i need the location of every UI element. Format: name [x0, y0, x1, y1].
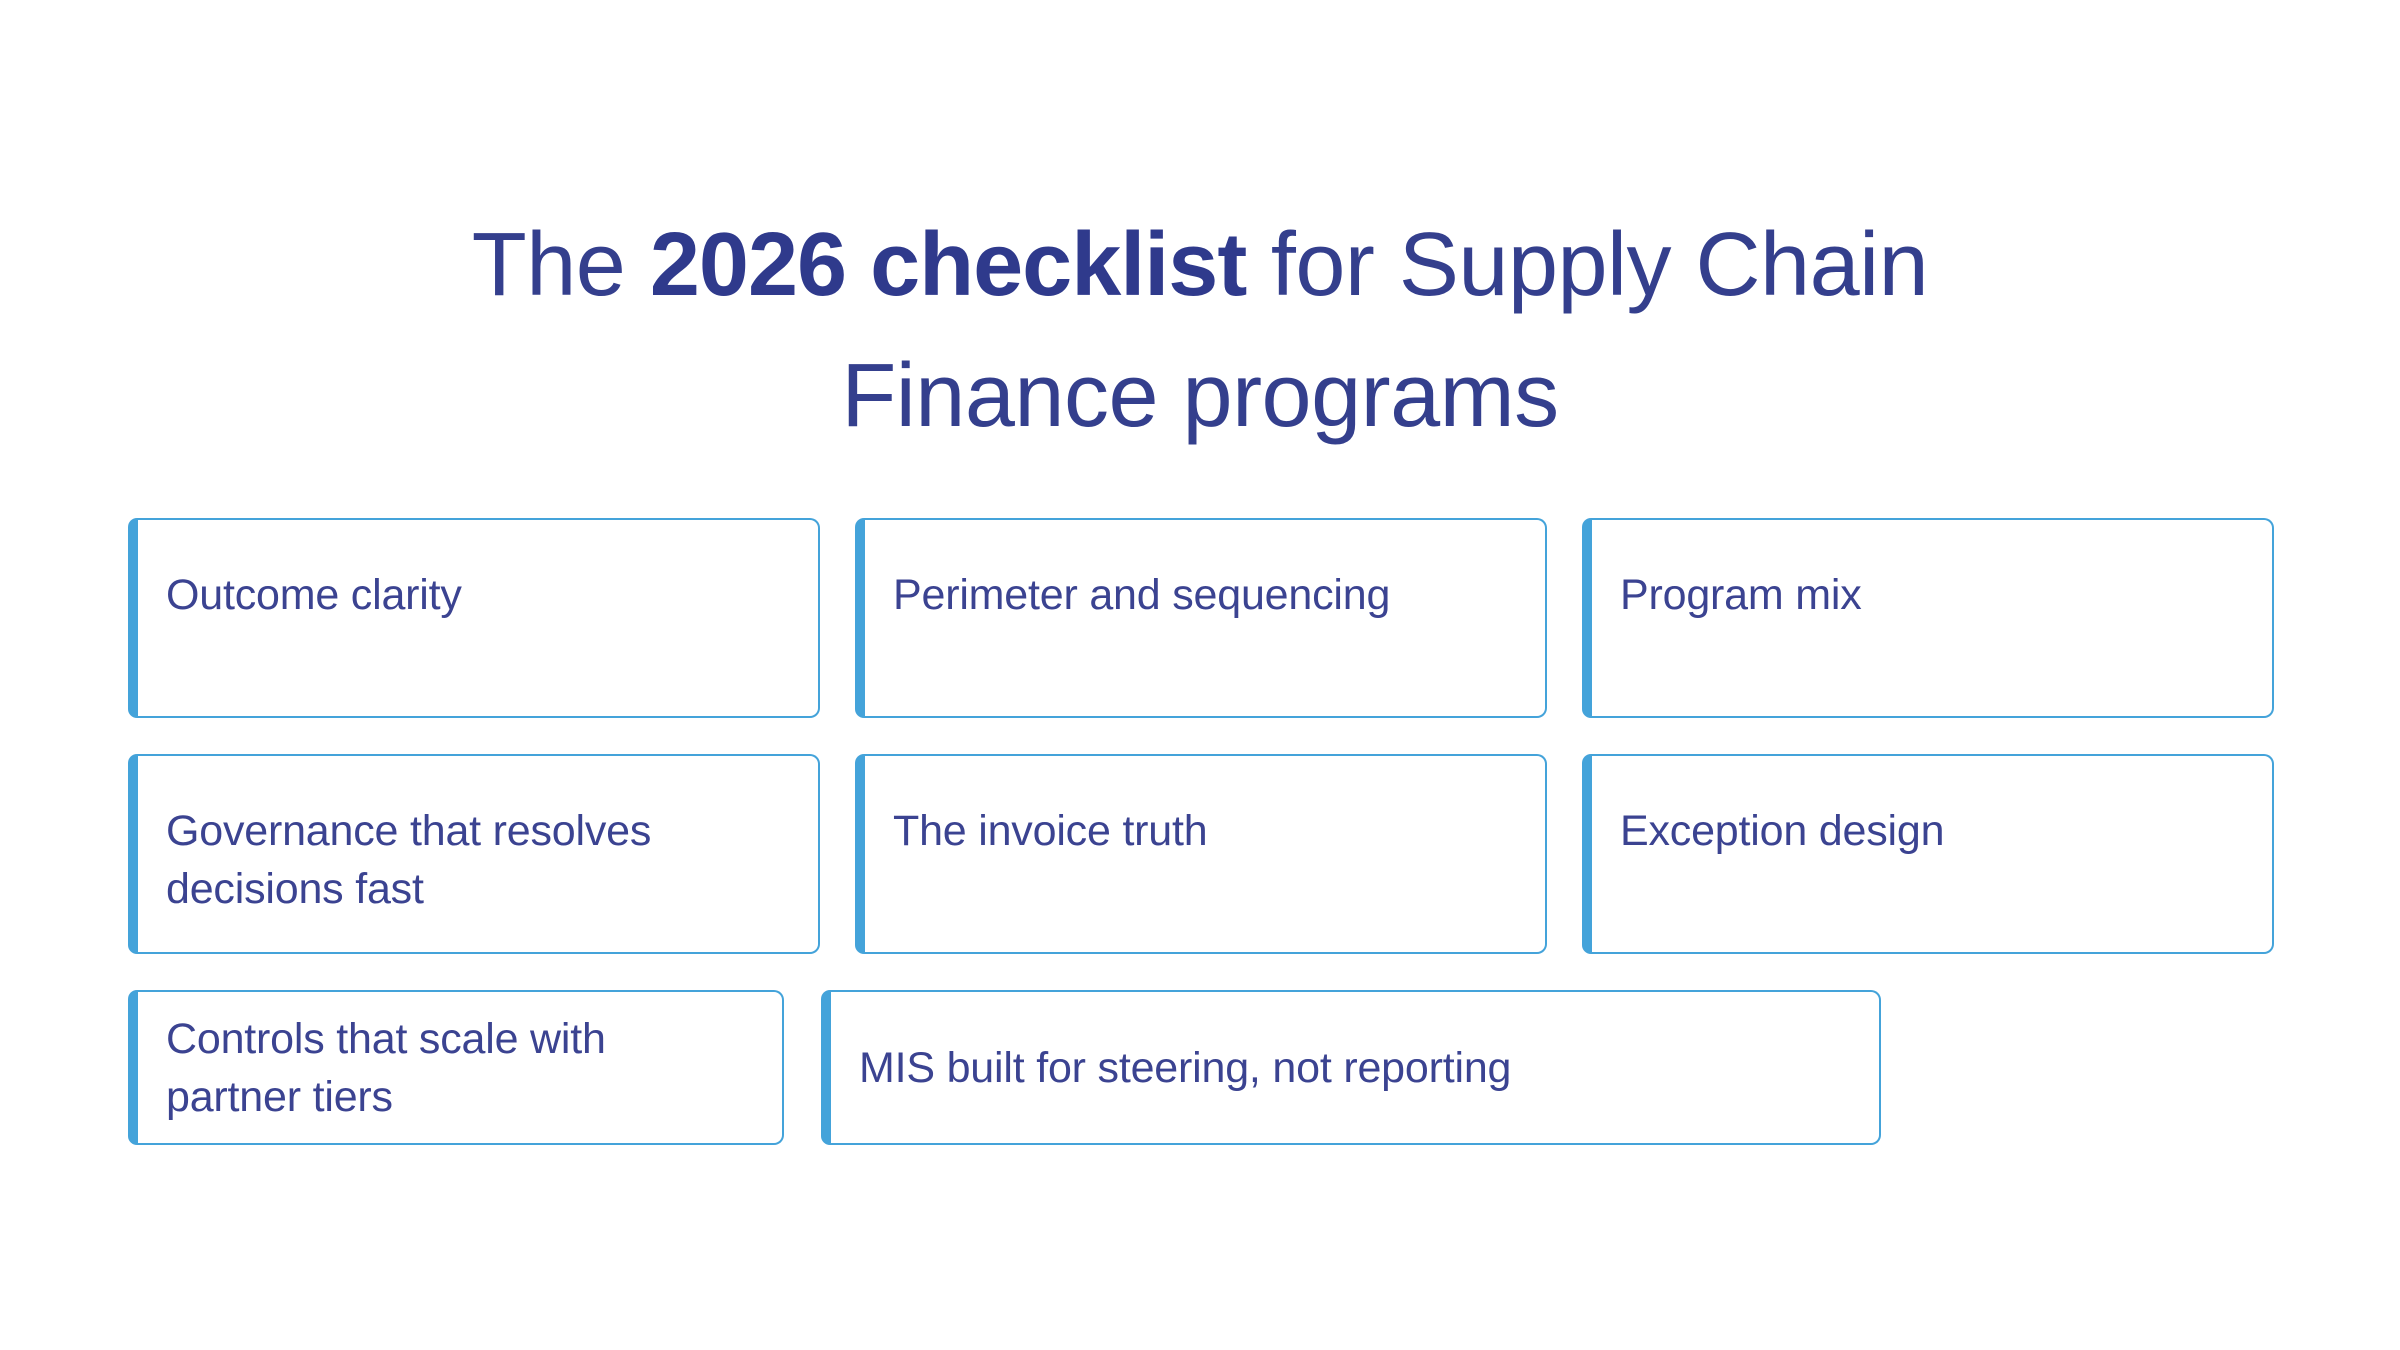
checklist-card-perimeter-and-sequencing[interactable]: Perimeter and sequencing [865, 518, 1547, 718]
card-accent-bar [821, 990, 831, 1145]
checklist-row-2: Governance that resolves decisions fast … [128, 754, 2274, 954]
checklist-card-label: Program mix [1592, 520, 1892, 624]
title-part-strong: 2026 checklist [650, 215, 1246, 315]
checklist-card-program-mix[interactable]: Program mix [1592, 518, 2274, 718]
checklist-card-governance[interactable]: Governance that resolves decisions fast [138, 754, 820, 954]
slide-canvas: The 2026 checklist for Supply Chain Fina… [0, 0, 2400, 1350]
checklist-card-exception-design[interactable]: Exception design [1592, 754, 2274, 954]
checklist-card-label: Perimeter and sequencing [865, 520, 1420, 624]
card-accent-bar [855, 518, 865, 718]
checklist-row-3: Controls that scale with partner tiers M… [128, 990, 2274, 1145]
checklist-card-outcome-clarity[interactable]: Outcome clarity [138, 518, 820, 718]
checklist-row-1: Outcome clarity Perimeter and sequencing… [128, 518, 2274, 718]
checklist-card-label: MIS built for steering, not reporting [831, 1039, 1541, 1097]
checklist-card-label: The invoice truth [865, 756, 1237, 860]
title-part-post: for Supply Chain [1246, 215, 1928, 315]
card-accent-bar [128, 518, 138, 718]
title-part-pre: The [472, 215, 650, 315]
card-accent-bar [128, 990, 138, 1145]
checklist-grid: Outcome clarity Perimeter and sequencing… [128, 518, 2274, 1145]
title-line-1: The 2026 checklist for Supply Chain [0, 200, 2400, 331]
card-accent-bar [855, 754, 865, 954]
card-accent-bar [1582, 754, 1592, 954]
checklist-card-label: Controls that scale with partner tiers [138, 1010, 782, 1126]
title-line-2: Finance programs [0, 331, 2400, 462]
checklist-card-invoice-truth[interactable]: The invoice truth [865, 754, 1547, 954]
checklist-card-controls-partner-tiers[interactable]: Controls that scale with partner tiers [138, 990, 784, 1145]
checklist-card-label: Outcome clarity [138, 520, 492, 624]
page-title: The 2026 checklist for Supply Chain Fina… [0, 200, 2400, 462]
checklist-card-label: Governance that resolves decisions fast [138, 756, 818, 918]
checklist-card-label: Exception design [1592, 756, 1974, 860]
card-accent-bar [1582, 518, 1592, 718]
checklist-card-mis-steering[interactable]: MIS built for steering, not reporting [831, 990, 1881, 1145]
card-accent-bar [128, 754, 138, 954]
